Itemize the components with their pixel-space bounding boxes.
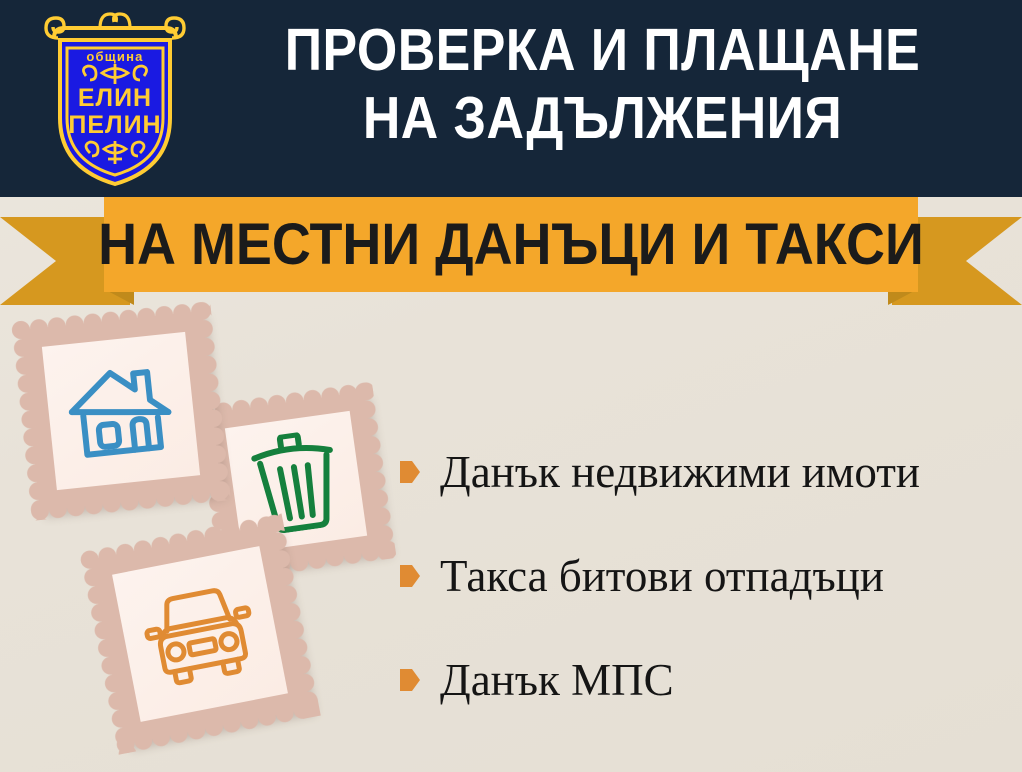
- list-item-label: Данък МПС: [440, 655, 674, 705]
- ribbon-label: НА МЕСТНИ ДАНЪЦИ И ТАКСИ: [98, 216, 924, 274]
- list-item[interactable]: Данък МПС: [400, 628, 1010, 732]
- tax-type-list: Данък недвижими имоти Такса битови отпад…: [400, 420, 1010, 732]
- crest-word-obshtina: община: [86, 49, 143, 64]
- municipality-logo: община ЕЛИН ПЕЛИН: [40, 8, 190, 190]
- stamp-face: [42, 332, 200, 490]
- crest-word-elin: ЕЛИН: [78, 84, 152, 112]
- list-item[interactable]: Данък недвижими имоти: [400, 420, 1010, 524]
- stamp-face: [112, 546, 288, 722]
- crest-icon: община ЕЛИН ПЕЛИН: [40, 8, 190, 190]
- title-line-1: ПРОВЕРКА И ПЛАЩАНЕ: [244, 16, 961, 84]
- poster-root: община ЕЛИН ПЕЛИН ПРОВЕРКА И ПЛА: [0, 0, 1022, 772]
- arrow-bullet-icon: [400, 669, 420, 691]
- car-front-icon: [136, 577, 264, 691]
- stamp-card-car: [90, 524, 310, 744]
- crest-word-pelin: ПЕЛИН: [68, 111, 161, 139]
- page-title: ПРОВЕРКА И ПЛАЩАНЕ НА ЗАДЪЛЖЕНИЯ: [195, 16, 1010, 152]
- house-icon: [62, 358, 179, 465]
- title-line-2: НА ЗАДЪЛЖЕНИЯ: [244, 84, 961, 152]
- arrow-bullet-icon: [400, 461, 420, 483]
- arrow-bullet-icon: [400, 565, 420, 587]
- subtitle-ribbon: НА МЕСТНИ ДАНЪЦИ И ТАКСИ: [0, 197, 1022, 309]
- stamp-card-house: [21, 311, 221, 511]
- list-item-label: Такса битови отпадъци: [440, 551, 884, 601]
- ribbon-banner: НА МЕСТНИ ДАНЪЦИ И ТАКСИ: [104, 197, 918, 292]
- list-item[interactable]: Такса битови отпадъци: [400, 524, 1010, 628]
- list-item-label: Данък недвижими имоти: [440, 447, 920, 497]
